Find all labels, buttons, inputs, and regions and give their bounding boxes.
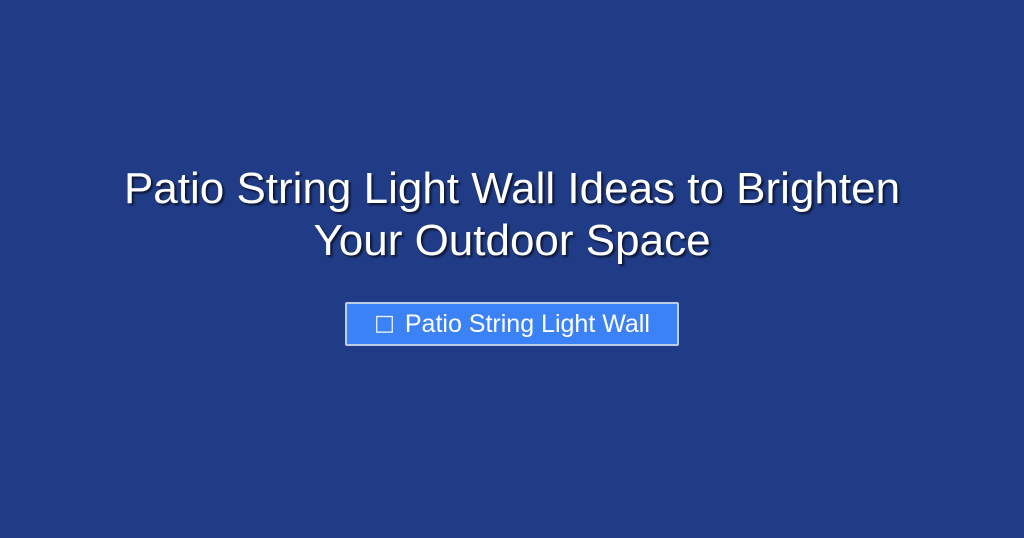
cta-button-label: Patio String Light Wall	[405, 310, 650, 338]
page-title: Patio String Light Wall Ideas to Brighte…	[82, 163, 942, 267]
missing-glyph-box-icon: □	[374, 313, 395, 335]
patio-string-light-wall-button[interactable]: □ Patio String Light Wall	[345, 302, 679, 346]
cta-container: □ Patio String Light Wall	[0, 302, 1024, 346]
hero-section: Patio String Light Wall Ideas to Brighte…	[0, 0, 1024, 538]
